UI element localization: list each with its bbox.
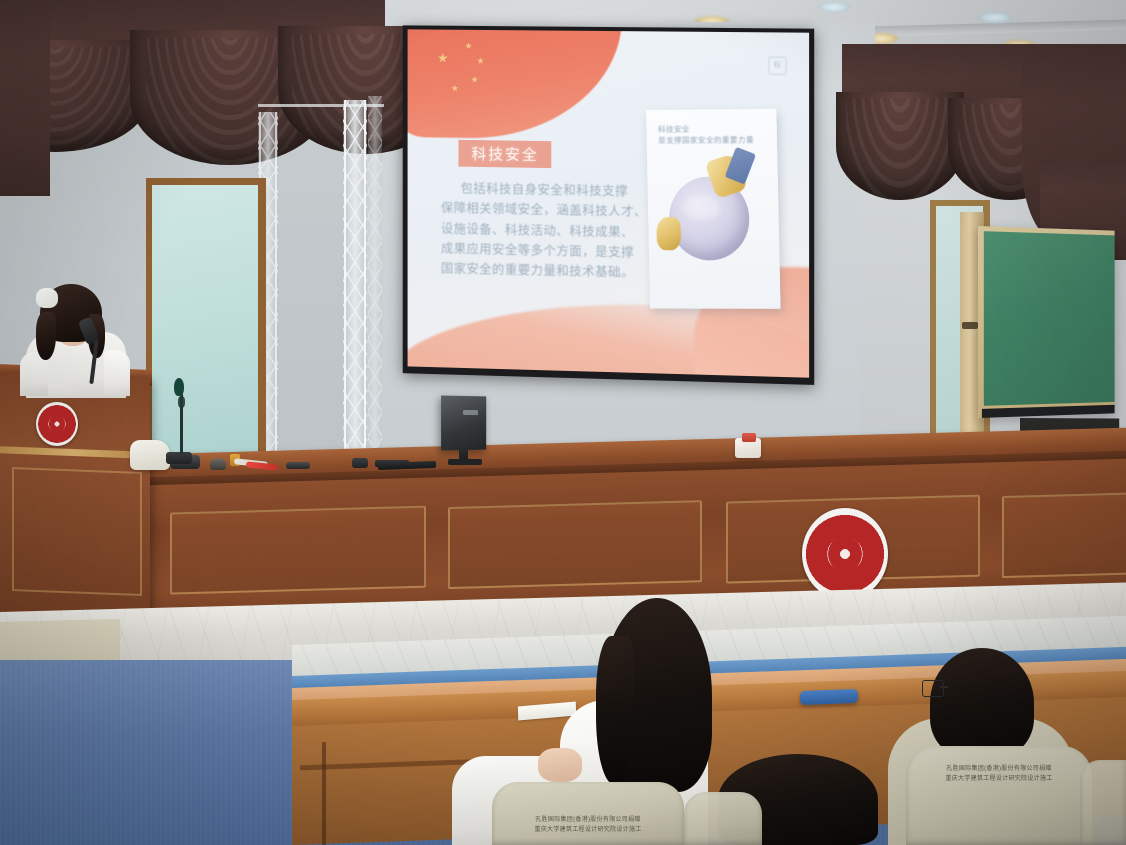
monitor-logo-icon: [463, 410, 478, 415]
door-panel: [152, 185, 258, 458]
stage-panel: [170, 506, 426, 595]
red-box: [742, 433, 756, 442]
chair-text-line: 重庆大学建筑工程设计研究院设计施工: [923, 774, 1076, 785]
slide: ★ ★ ★ ★ ★ 标 科技安全 包括科技自身安全和科技支撑 保障相关领域安全，…: [408, 29, 810, 377]
truss-crossbar: [258, 104, 384, 107]
podium-emblem: 校: [36, 402, 78, 446]
stage-panel: [448, 500, 702, 589]
computer-monitor[interactable]: [441, 396, 486, 451]
speaker-hair-side: [36, 312, 56, 360]
speaker-sleeve: [104, 350, 130, 396]
audience-member-hair-strand: [596, 636, 634, 784]
desk-divider: [322, 742, 326, 845]
gooseneck-microphone[interactable]: [174, 378, 184, 396]
blue-ornament-icon: [725, 146, 756, 183]
hair-bow: [36, 288, 58, 308]
ceiling-downlight-icon: [978, 12, 1012, 23]
slide-poster-image: 科技安全 是支撑国家安全的重要力量: [646, 109, 780, 309]
truss-tower: [343, 100, 367, 465]
chalkboard-surface: [984, 231, 1115, 406]
chair-sponsor-text: 孔胜国际集团(香港)股份有限公司捐赠 重庆大学建筑工程设计研究院设计施工: [923, 764, 1076, 785]
white-bag[interactable]: [130, 440, 170, 470]
projection-screen: ★ ★ ★ ★ ★ 标 科技安全 包括科技自身安全和科技支撑 保障相关领域安全，…: [403, 25, 814, 385]
university-emblem: 校徽: [802, 508, 888, 600]
slide-body-line: 国家安全的重要力量和技术基础。: [441, 258, 648, 283]
audience-chair[interactable]: 孔胜国际集团(香港)股份有限公司捐赠 重庆大学建筑工程设计研究院设计施工: [492, 782, 684, 845]
chair-text-line: 孔胜国际集团(香港)股份有限公司捐赠: [509, 815, 666, 826]
chair-text-line: 重庆大学建筑工程设计研究院设计施工: [509, 825, 666, 836]
flag-star-icon: ★: [471, 76, 479, 85]
gold-ornament-icon: [656, 217, 681, 251]
cabinet-hinge-icon: [962, 322, 978, 329]
chalkboard: [978, 226, 1115, 418]
flag-star-icon: ★: [465, 42, 473, 51]
audience-chair[interactable]: [1080, 760, 1126, 845]
poster-title-line: 是支撑国家安全的重要力量: [658, 134, 767, 146]
poster-title: 科技安全 是支撑国家安全的重要力量: [658, 123, 768, 146]
chair-text-line: 孔胜国际集团(香港)股份有限公司捐赠: [923, 764, 1076, 775]
slide-flag-banner: [408, 29, 622, 140]
truss-tower: [368, 96, 382, 464]
ceiling-downlight-icon: [818, 2, 850, 12]
eyeglasses-bridge-icon: [940, 686, 948, 688]
flag-star-icon: ★: [451, 84, 459, 93]
podium-panel: [12, 467, 142, 596]
poster-title-line: 科技安全: [658, 123, 767, 135]
emblem-glyph: 校: [36, 402, 78, 446]
chair-sponsor-text: 孔胜国际集团(香港)股份有限公司捐赠 重庆大学建筑工程设计研究院设计施工: [509, 815, 666, 836]
slide-title: 科技安全: [459, 140, 552, 168]
lecture-hall-photo: ★ ★ ★ ★ ★ 标 科技安全 包括科技自身安全和科技支撑 保障相关领域安全，…: [0, 0, 1126, 845]
audience-chair[interactable]: 孔胜国际集团(香港)股份有限公司捐赠 重庆大学建筑工程设计研究院设计施工: [906, 746, 1092, 845]
microphone-base: [166, 452, 192, 464]
dark-object[interactable]: [352, 458, 368, 468]
audience-chair[interactable]: [684, 792, 762, 845]
stage-panel: [1002, 493, 1126, 578]
blue-pencil-case[interactable]: [800, 689, 858, 705]
curtain-panel-left: [0, 0, 50, 196]
slide-body-text: 包括科技自身安全和科技支撑 保障相关领域安全，涵盖科技人才、 设施设备、科技活动…: [441, 178, 648, 283]
flag-star-icon: ★: [437, 52, 448, 65]
eyeglasses-icon: [922, 680, 944, 697]
small-cup[interactable]: [210, 458, 226, 470]
screen-surface: ★ ★ ★ ★ ★ 标 科技安全 包括科技自身安全和科技支撑 保障相关领域安全，…: [408, 29, 810, 377]
flag-star-icon: ★: [477, 57, 485, 66]
rear-door-left[interactable]: [146, 178, 266, 458]
dark-remote[interactable]: [286, 462, 310, 469]
curtain-swag: [836, 92, 964, 200]
audience-member-hair: [930, 648, 1034, 758]
emblem-glyph: 校徽: [802, 508, 888, 600]
monitor-foot: [448, 459, 482, 465]
audience-member-hand: [538, 748, 582, 782]
gooseneck-stem: [180, 386, 183, 454]
slide-watermark-icon: 标: [768, 56, 786, 74]
